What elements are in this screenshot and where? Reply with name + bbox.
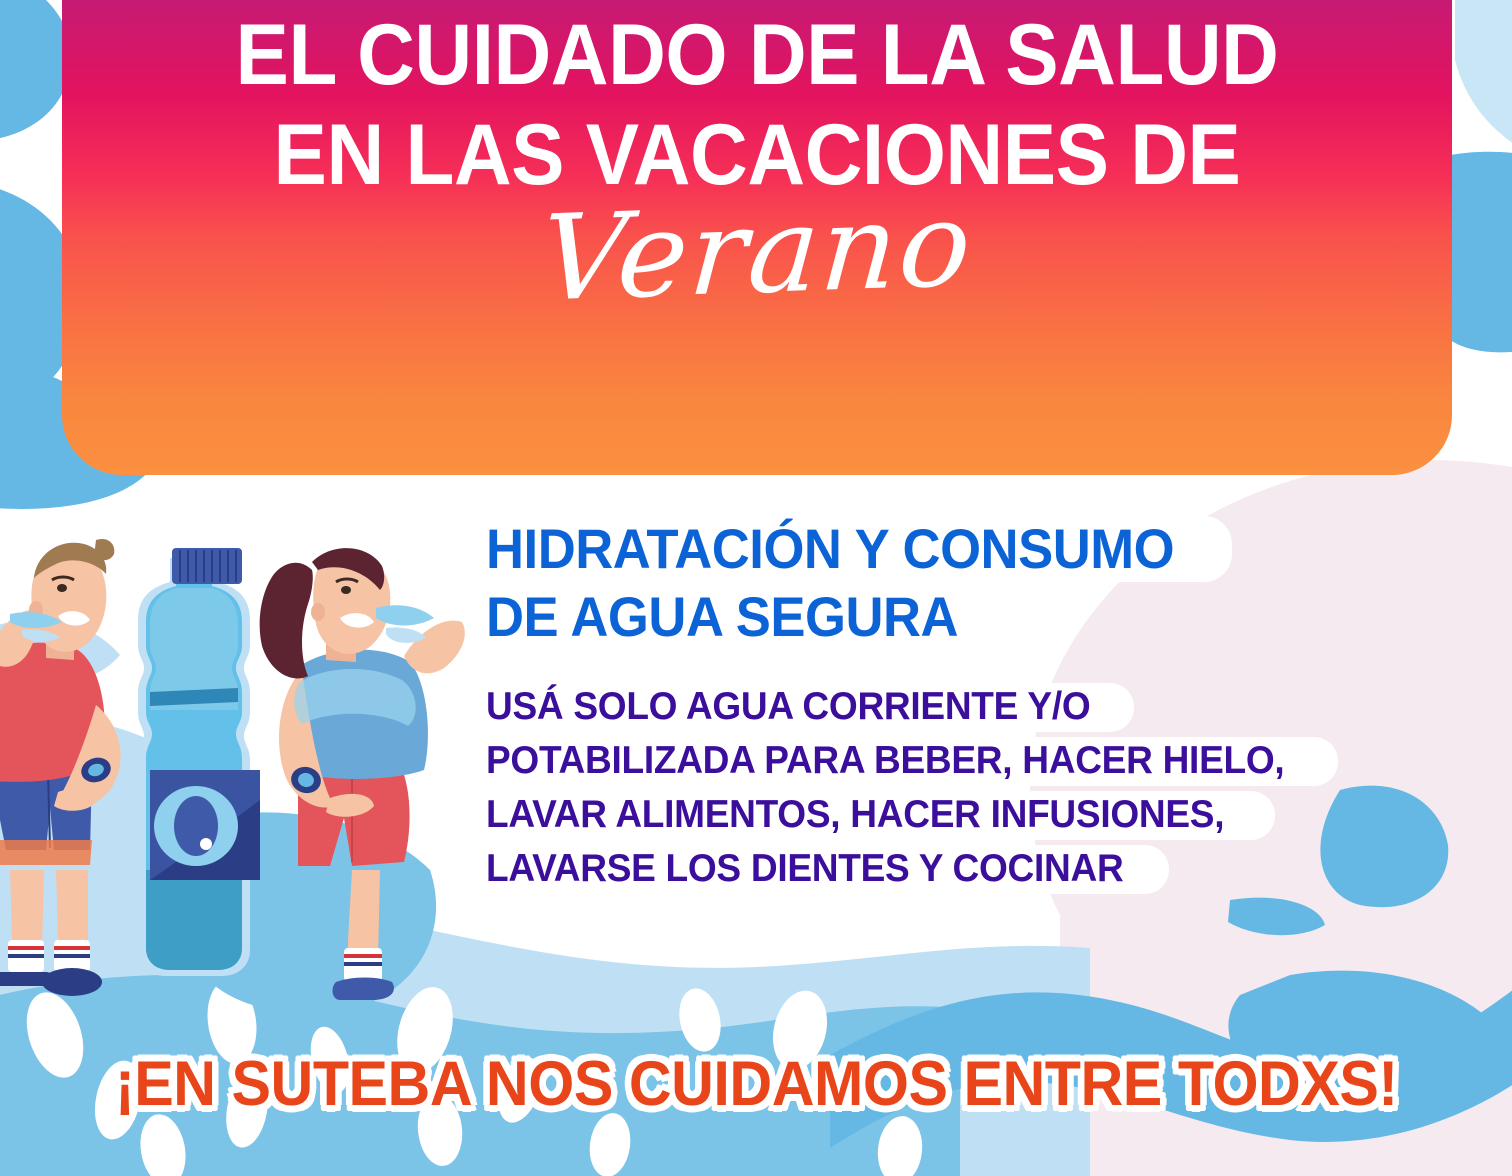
section-heading: HIDRATACIÓN Y CONSUMO DE AGUA SEGURA [486,520,1486,645]
header-inner: EL CUIDADO DE LA SALUD EN LAS VACACIONES… [62,12,1452,310]
footer-slogan: ¡EN SUTEBA NOS CUIDAMOS ENTRE TODXS! [0,1048,1512,1120]
section-body: USÁ SOLO AGUA CORRIENTE Y/O POTABILIZADA… [486,687,1486,890]
lavender-block-icon [1060,900,1512,1176]
heading-line-2: DE AGUA SEGURA [486,588,988,646]
body-line-4: LAVARSE LOS DIENTES Y COCINAR [486,849,1157,890]
illustration-group [0,470,500,1030]
body-text-1: USÁ SOLO AGUA CORRIENTE Y/O [486,687,1090,728]
body-text-2: POTABILIZADA PARA BEBER, HACER HIELO, [486,741,1284,782]
main-content: HIDRATACIÓN Y CONSUMO DE AGUA SEGURA USÁ… [486,520,1486,903]
wave-accent-right-small-icon [1228,898,1325,936]
poster-title-line-1: EL CUIDADO DE LA SALUD [135,12,1379,98]
heading-text-1: HIDRATACIÓN Y CONSUMO [486,520,1174,578]
wave-top-right-icon [1450,152,1512,353]
water-bottle-icon [138,548,260,976]
poster-title-script-word: Verano [537,185,977,318]
body-line-1: USÁ SOLO AGUA CORRIENTE Y/O [486,687,1122,728]
body-text-4: LAVARSE LOS DIENTES Y COCINAR [486,849,1123,890]
body-text-3: LAVAR ALIMENTOS, HACER INFUSIONES, [486,795,1224,836]
body-line-3: LAVAR ALIMENTOS, HACER INFUSIONES, [486,795,1263,836]
header-banner: EL CUIDADO DE LA SALUD EN LAS VACACIONES… [62,0,1452,475]
poster-root: EL CUIDADO DE LA SALUD EN LAS VACACIONES… [0,0,1512,1176]
heading-text-2: DE AGUA SEGURA [486,588,958,646]
bottle-cap-icon [172,548,242,584]
footer-slogan-text: ¡EN SUTEBA NOS CUIDAMOS ENTRE TODXS! [115,1048,1398,1120]
wave-top-left-icon [0,0,71,142]
body-line-2: POTABILIZADA PARA BEBER, HACER HIELO, [486,741,1326,782]
heading-line-1: HIDRATACIÓN Y CONSUMO [486,520,1218,578]
wave-top-right-light-icon [1455,0,1512,170]
